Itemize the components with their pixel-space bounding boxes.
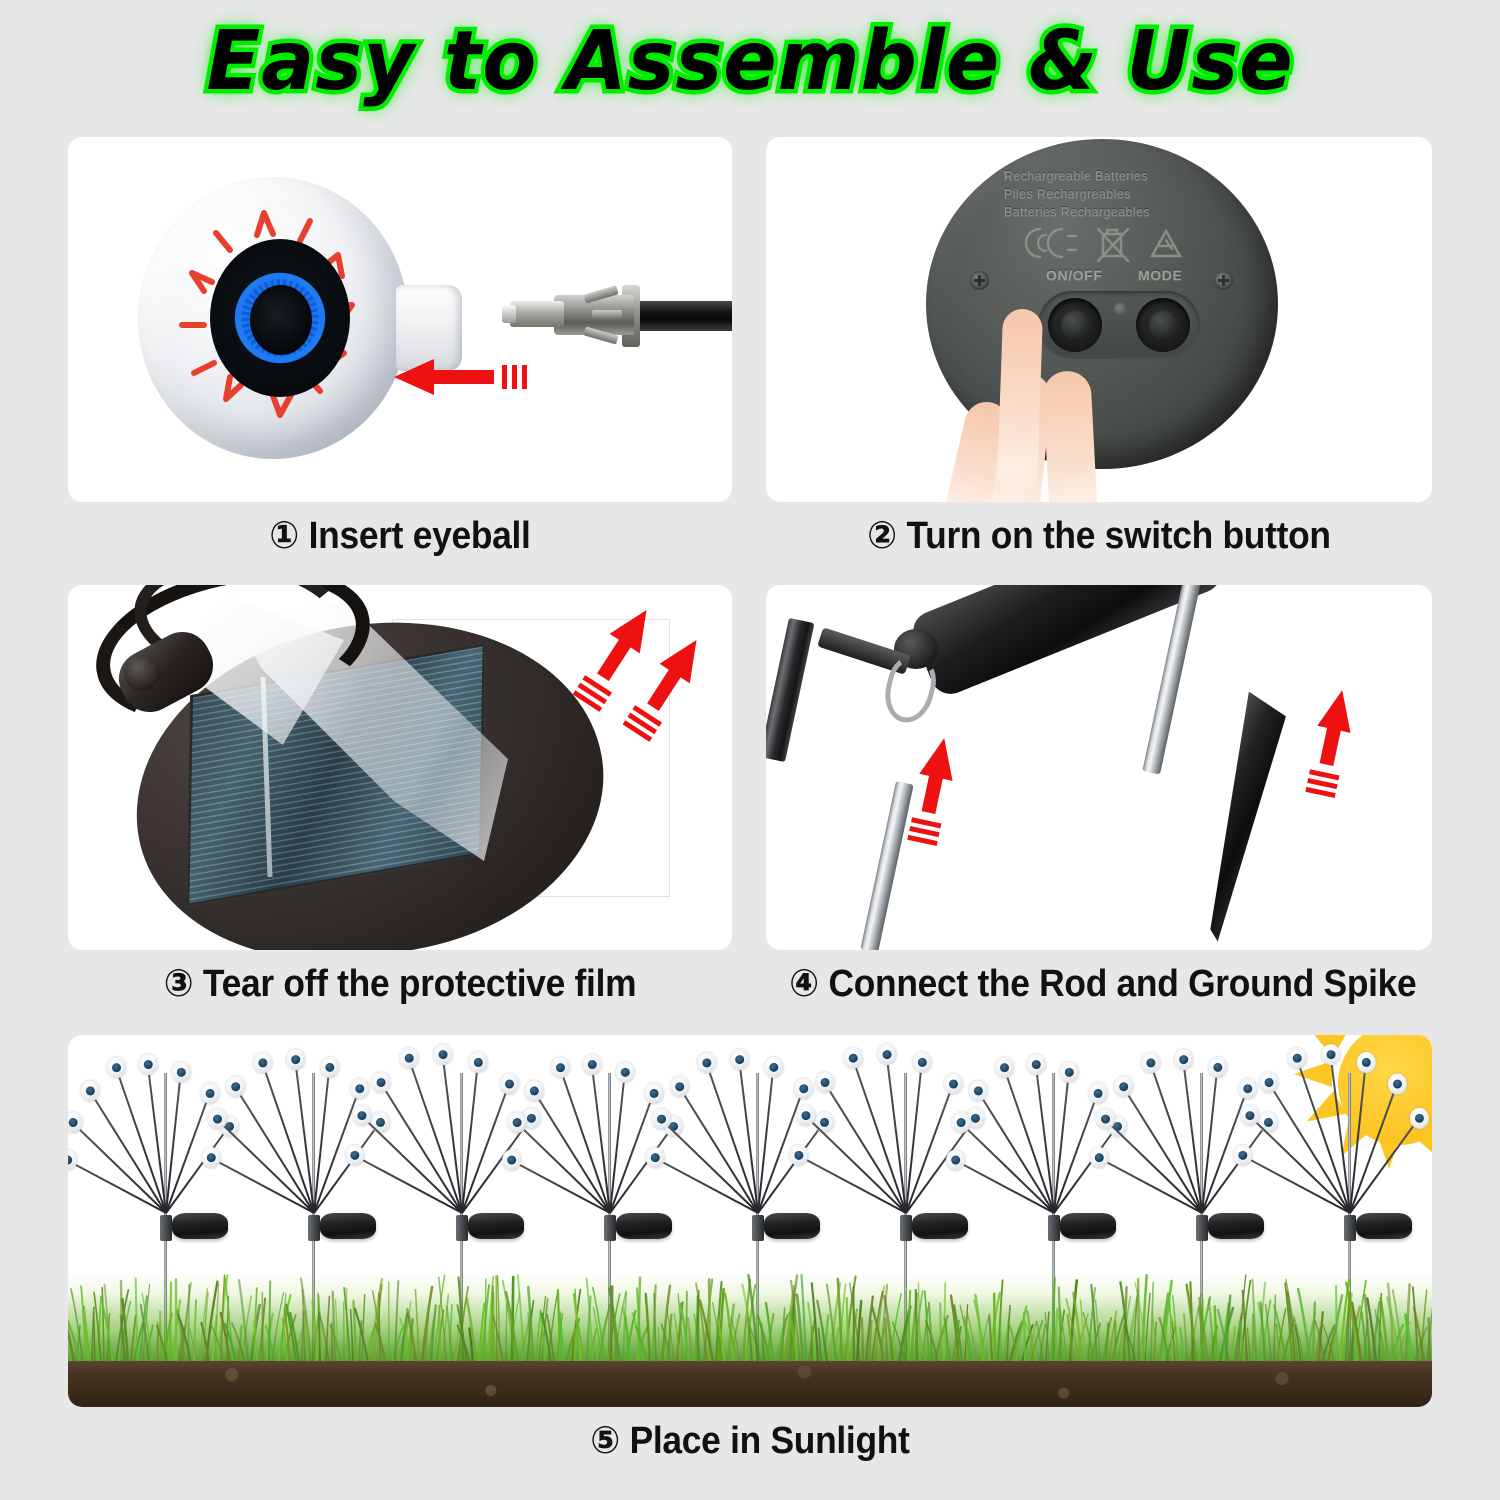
finger-index-pressing — [997, 308, 1043, 489]
eyeball-bulb — [68, 1150, 77, 1171]
eyeball-bulb — [469, 1052, 488, 1073]
eyeball-bulb-iris — [513, 1118, 522, 1127]
eyeball-bulb — [352, 1105, 371, 1126]
eyeball-bulb-iris — [530, 1086, 539, 1095]
stake-solar-panel — [172, 1213, 228, 1239]
eyeball-bulb — [1233, 1145, 1252, 1166]
eyeball-bulb — [913, 1052, 932, 1073]
eyeball-bulb-iris — [405, 1054, 414, 1063]
eyeball-bulb — [1288, 1048, 1307, 1069]
eyeball-bulb — [350, 1078, 369, 1099]
eyeball-bulb-iris — [377, 1078, 386, 1087]
hand-pressing-graphic — [942, 327, 1172, 502]
eyeball-bulb — [400, 1048, 419, 1069]
eyeball-bulb-iris — [439, 1050, 448, 1059]
stake-bracket — [752, 1215, 764, 1241]
eyeball-bulb — [345, 1145, 364, 1166]
peel-direction-arrow-2-icon — [626, 627, 706, 747]
eyeball-bulb — [508, 1112, 527, 1133]
eyeball-bulb-iris — [69, 1118, 78, 1127]
eyeball-bulb-iris — [177, 1068, 186, 1077]
stake-solar-panel — [764, 1213, 820, 1239]
certification-symbols — [1022, 223, 1212, 263]
eyeball-bulb-iris — [1293, 1054, 1302, 1063]
connect-arrow-left-icon — [898, 733, 968, 849]
eyeball-bulb — [789, 1145, 808, 1166]
eyeball-bulb-iris — [1393, 1080, 1402, 1089]
stake-solar-panel — [468, 1213, 524, 1239]
eyeball-bulb-iris — [702, 1058, 711, 1067]
eyeball-bulb — [1240, 1105, 1259, 1126]
eyeball-bulb-iris — [505, 1080, 514, 1089]
eyeball-bulb-iris — [621, 1068, 630, 1077]
soil-layer — [68, 1361, 1432, 1407]
stake-bracket — [1048, 1215, 1060, 1241]
lamp-hinge-knob — [124, 655, 160, 691]
eyeball-bulb-iris — [86, 1086, 95, 1095]
stake-bracket — [308, 1215, 320, 1241]
eyeball-bulb — [320, 1057, 339, 1078]
step-5-image-panel — [68, 1035, 1432, 1407]
eyeball-bulb — [253, 1052, 272, 1073]
step-1-image-panel — [68, 137, 732, 502]
eyeball-bulb-iris — [144, 1060, 153, 1069]
eyeball-bulb — [500, 1074, 519, 1095]
eyeball-bulb — [1388, 1074, 1407, 1095]
light-stem — [1201, 1124, 1266, 1213]
eyeball-bulb-iris — [556, 1063, 565, 1072]
ground-spike — [1188, 692, 1289, 945]
eyeball-bulb — [952, 1112, 971, 1133]
eyeball-bulb-iris — [527, 1114, 536, 1123]
page-title: Easy to Assemble & Use — [30, 14, 1470, 109]
eyeball-bulb-iris — [206, 1089, 215, 1098]
stake-bracket — [604, 1215, 616, 1241]
eyeball-bulb-iris — [657, 1115, 666, 1124]
eyeball-bulb — [1410, 1108, 1429, 1129]
eyeball-bulb-iris — [1101, 1115, 1110, 1124]
stake-solar-panel — [1356, 1213, 1412, 1239]
eyeball-bulb — [1208, 1057, 1227, 1078]
eyeball-bulb-iris — [883, 1050, 892, 1059]
eyeball-bulb — [1238, 1078, 1257, 1099]
eyeball-bulb — [81, 1080, 100, 1101]
stake-solar-panel — [1060, 1213, 1116, 1239]
eyeball-bulb — [1357, 1052, 1376, 1073]
eyeball-bulb — [202, 1147, 221, 1168]
infographic-page: Easy to Assemble & Use — [0, 0, 1500, 1500]
onoff-label: ON/OFF — [1046, 267, 1102, 283]
light-stem — [1053, 1128, 1115, 1213]
eyeball-bulb — [1322, 1044, 1341, 1065]
connector-black-rod — [630, 301, 732, 331]
step-2-caption: ② Turn on the switch button — [789, 513, 1408, 558]
emboss-line-2: Piles Rechargreables — [1004, 187, 1131, 201]
eyeball-bulb — [226, 1076, 245, 1097]
eyeball-bulb-iris — [1213, 1063, 1222, 1072]
eyeball-bulb-iris — [794, 1151, 803, 1160]
eyeball-graphic — [138, 177, 438, 467]
eyeball-bulb — [1174, 1049, 1193, 1070]
eyeball-bulb — [995, 1057, 1014, 1078]
eyeball-bulb — [796, 1105, 815, 1126]
step-4-image-panel — [766, 585, 1432, 950]
eyeball-bulb — [1090, 1147, 1109, 1168]
light-stem — [382, 1085, 463, 1213]
eyeball-bulb-iris — [849, 1054, 858, 1063]
step-2-image-panel: Rechargreable Batteries Piles Rechargrea… — [766, 137, 1432, 502]
eyeball-bulb-iris — [231, 1082, 240, 1091]
eyeball-bulb-iris — [971, 1114, 980, 1123]
emboss-line-3: Batteries Rechargeables — [1004, 205, 1150, 219]
eyeball-bulb — [1260, 1072, 1279, 1093]
eyeball-bulb — [646, 1147, 665, 1168]
emboss-line-1: Rechargreable Batteries — [1004, 169, 1148, 183]
stake-solar-panel — [320, 1213, 376, 1239]
eyeball-bulb — [372, 1072, 391, 1093]
light-stem — [461, 1120, 529, 1213]
eyeball-bulb — [201, 1083, 220, 1104]
connector-prong — [583, 285, 618, 303]
eyeball-bulb-iris — [112, 1063, 121, 1072]
eyeball-bulb — [944, 1074, 963, 1095]
eyeball-bulb-iris — [735, 1055, 744, 1064]
eyeball-bulb-iris — [325, 1063, 334, 1072]
eyeball-pupil — [250, 285, 312, 355]
mode-label: MODE — [1138, 267, 1182, 283]
eyeball-bulb — [434, 1044, 453, 1065]
stake-bracket — [1344, 1215, 1356, 1241]
eyeball-bulb-iris — [799, 1084, 808, 1093]
eyeball-bulb-iris — [1119, 1082, 1128, 1091]
eyeball-bulb — [946, 1150, 965, 1171]
screw-left — [970, 271, 989, 290]
eyeball-bulb-iris — [820, 1118, 829, 1127]
eyeball-bulb — [816, 1072, 835, 1093]
eyeball-bulb-iris — [1238, 1151, 1247, 1160]
step-4-caption: ④ Connect the Rod and Ground Spike — [789, 961, 1408, 1006]
eyeball-bulb — [583, 1054, 602, 1075]
eyeball-bulb-iris — [507, 1156, 516, 1165]
screw-right — [1214, 271, 1233, 290]
eyeball-bulb — [697, 1052, 716, 1073]
insert-direction-arrow-icon — [390, 355, 532, 399]
rod-connector-graphic — [500, 279, 732, 351]
grass-layer — [68, 1271, 1432, 1363]
light-stem — [905, 1120, 973, 1213]
step-3-caption: ③ Tear off the protective film — [91, 961, 709, 1006]
eyeball-bulb-iris — [355, 1084, 364, 1093]
eyeball-bulb — [878, 1044, 897, 1065]
eyeball-bulb — [794, 1078, 813, 1099]
eyeball-bulb-iris — [1362, 1058, 1371, 1067]
eyeball-bulb — [286, 1049, 305, 1070]
eyeball-bulb-iris — [974, 1086, 983, 1095]
eyeball-bulb-iris — [1094, 1089, 1103, 1098]
stake-bracket — [1196, 1215, 1208, 1241]
eyeball-iris-dark — [210, 239, 350, 397]
eyeball-bulb-iris — [1000, 1063, 1009, 1072]
eyeball-bulb-iris — [1146, 1058, 1155, 1067]
eyeball-bulb-iris — [675, 1082, 684, 1091]
light-stem — [757, 1124, 822, 1213]
eyeball-bulb-iris — [588, 1060, 597, 1069]
step-1-caption: ① Insert eyeball — [91, 513, 709, 558]
light-stem — [609, 1128, 671, 1213]
eyeball-bulb-iris — [1243, 1084, 1252, 1093]
eyeball-bulb-iris — [376, 1118, 385, 1127]
eyeball-bulb — [172, 1062, 191, 1083]
eyeball-bulb — [1060, 1062, 1079, 1083]
eyeball-bulb-iris — [651, 1153, 660, 1162]
eyeball-bulb — [616, 1062, 635, 1083]
eyeball-bulb-iris — [474, 1058, 483, 1067]
eyeball-bulb-iris — [291, 1055, 300, 1064]
eyeball-bulb — [107, 1057, 126, 1078]
eyeball-bulb-iris — [951, 1156, 960, 1165]
connector-prong — [583, 326, 618, 344]
light-stem — [313, 1124, 378, 1213]
eyeball-bulb — [68, 1112, 83, 1133]
eyeball-bulb-iris — [949, 1080, 958, 1089]
eyeball-bulb — [502, 1150, 521, 1171]
eyeball-bulb — [652, 1109, 671, 1130]
finger-middle — [1042, 370, 1098, 502]
eyeball-bulb — [844, 1048, 863, 1069]
eyeball-bulb-iris — [357, 1111, 366, 1120]
eyeball-bulb — [551, 1057, 570, 1078]
eyeball-bulb — [1141, 1052, 1160, 1073]
connector-barb-body — [554, 295, 634, 335]
stake-solar-panel — [1208, 1213, 1264, 1239]
stake-bracket — [160, 1215, 172, 1241]
eyeball-bulb-iris — [821, 1078, 830, 1087]
eyeball-bulb — [1027, 1054, 1046, 1075]
step-3-image-panel — [68, 585, 732, 950]
eyeball-bulb — [1096, 1109, 1115, 1130]
eyeball-bulb-iris — [1265, 1078, 1274, 1087]
eyeball-bulb-iris — [769, 1063, 778, 1072]
eyeball-bulb-iris — [1065, 1068, 1074, 1077]
eyeball-bulb — [208, 1109, 227, 1130]
eyeball-bulb-iris — [207, 1153, 216, 1162]
stake-bracket — [456, 1215, 468, 1241]
connector-prong — [592, 310, 622, 319]
eyeball-bulb-iris — [350, 1151, 359, 1160]
eyeball-bulb — [969, 1080, 988, 1101]
eyeball-bulb — [670, 1076, 689, 1097]
eyeball-bulb-iris — [1264, 1118, 1273, 1127]
stake-solar-panel — [616, 1213, 672, 1239]
eyeball-bulb — [1089, 1083, 1108, 1104]
eyeball-bulb-iris — [957, 1118, 966, 1127]
led-indicator-icon — [1114, 303, 1126, 315]
connect-arrow-right-icon — [1296, 685, 1366, 801]
eyeball-bulb-iris — [801, 1111, 810, 1120]
stake-bracket — [900, 1215, 912, 1241]
eyeball-bulb — [139, 1054, 158, 1075]
eyeball-bulb-iris — [1179, 1055, 1188, 1064]
eyeball-bulb — [1114, 1076, 1133, 1097]
eyeball-bulb-iris — [650, 1089, 659, 1098]
step-5-caption: ⑤ Place in Sunlight — [116, 1418, 1385, 1463]
stake-solar-panel — [912, 1213, 968, 1239]
eyeball-bulb-iris — [918, 1058, 927, 1067]
eyeball-bulb — [764, 1057, 783, 1078]
eyeball-bulb-iris — [1415, 1114, 1424, 1123]
eyeball-bulb-iris — [258, 1058, 267, 1067]
light-stem — [165, 1128, 227, 1213]
eyeball-bulb — [525, 1080, 544, 1101]
eyeball-bulb-iris — [1327, 1050, 1336, 1059]
eyeball-bulb-iris — [1095, 1153, 1104, 1162]
eyeball-bulb-iris — [68, 1156, 72, 1165]
eyeball-bulb-iris — [1245, 1111, 1254, 1120]
light-stem — [826, 1085, 907, 1213]
rod-upper-socket — [766, 618, 814, 762]
eyeball-bulb-iris — [1032, 1060, 1041, 1069]
connector-metal-tip — [510, 301, 564, 327]
eyeball-bulb — [730, 1049, 749, 1070]
eyeball-bulb-iris — [213, 1115, 222, 1124]
eyeball-bulb — [645, 1083, 664, 1104]
